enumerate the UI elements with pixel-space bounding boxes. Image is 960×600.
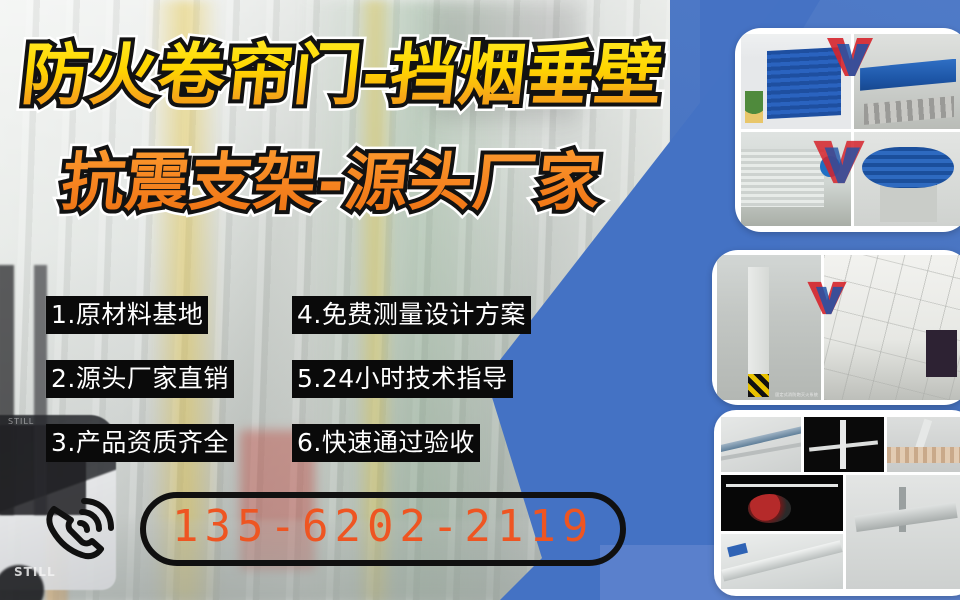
feature-item-2: 2.源头厂家直销	[46, 360, 234, 398]
photo-blue-rolling-fire-shutter-door	[741, 34, 851, 129]
feature-column-right: 6.快速通过验收	[292, 424, 562, 462]
forklift-badge-small: STILL	[8, 417, 34, 426]
headline-primary-text: 防火卷帘门-挡烟垂壁	[18, 36, 667, 114]
forklift-brand-label: STILL	[14, 565, 56, 579]
photo-shutter-roll-forming-machine	[854, 34, 960, 129]
collage-installation-photos[interactable]: 固定式消防炮灭火系统	[712, 250, 960, 405]
feature-column-left: 2.源头厂家直销	[46, 360, 292, 398]
phone-call-icon	[40, 493, 118, 565]
feature-item-5: 5.24小时技术指导	[292, 360, 513, 398]
feature-column-left: 3.产品资质齐全	[46, 424, 292, 462]
collage-grid	[721, 417, 960, 589]
feature-list: 1.原材料基地 4.免费测量设计方案 2.源头厂家直销 5.24小时技术指导 3…	[46, 296, 566, 488]
collage-product-photos[interactable]	[735, 28, 960, 232]
feature-column-right: 5.24小时技术指导	[292, 360, 562, 398]
photo-caption: 固定式消防炮灭火系统	[775, 392, 818, 398]
photo-parking-garage-columns: 固定式消防炮灭火系统	[717, 255, 821, 400]
photo-blue-steel-coil-roll	[854, 132, 960, 227]
feature-item-6: 6.快速通过验收	[292, 424, 480, 462]
collage-grid: 固定式消防炮灭火系统	[717, 255, 960, 400]
phone-number-pill[interactable]: 135-6202-2119	[140, 492, 626, 566]
photo-grey-rolling-shutter-interior	[741, 132, 851, 227]
photo-fan-unit-brace	[721, 475, 843, 530]
photo-duct-support-brace	[721, 534, 843, 589]
headline-secondary-text: 抗震支架-源头厂家	[58, 146, 605, 219]
phone-number-text: 135-6202-2119	[172, 504, 594, 550]
feature-item-1: 1.原材料基地	[46, 296, 208, 334]
headline-secondary: 抗震支架-源头厂家 抗震支架-源头厂家 抗震支架-源头厂家	[58, 146, 605, 220]
collage-seismic-bracing-photos[interactable]	[714, 410, 960, 596]
headline-primary: 防火卷帘门-挡烟垂壁 防火卷帘门-挡烟垂壁 防火卷帘门-挡烟垂壁	[18, 36, 667, 114]
forklift-mast	[0, 265, 14, 515]
feature-item-3: 3.产品资质齐全	[46, 424, 234, 462]
feature-column-left: 1.原材料基地	[46, 296, 292, 334]
feature-column-right: 4.免费测量设计方案	[292, 296, 562, 334]
photo-duct-clamp-brace	[887, 417, 960, 472]
photo-pipe-seismic-brace-ceiling	[721, 417, 801, 472]
feature-item-4: 4.免费测量设计方案	[292, 296, 531, 334]
ad-banner: STILL STILL 防火卷帘门-挡烟垂壁 防火卷帘门-挡烟垂壁 防火卷帘门-…	[0, 0, 960, 600]
photo-overhead-hanger-brace	[846, 475, 960, 589]
contact-phone-block[interactable]: 135-6202-2119	[40, 492, 626, 566]
photo-suspended-ceiling-lighting	[824, 255, 960, 400]
photo-cable-tray-brace-detail	[804, 417, 884, 472]
feature-row: 1.原材料基地 4.免费测量设计方案	[46, 296, 566, 334]
feature-row: 3.产品资质齐全 6.快速通过验收	[46, 424, 566, 462]
collage-grid	[741, 34, 960, 226]
feature-row: 2.源头厂家直销 5.24小时技术指导	[46, 360, 566, 398]
